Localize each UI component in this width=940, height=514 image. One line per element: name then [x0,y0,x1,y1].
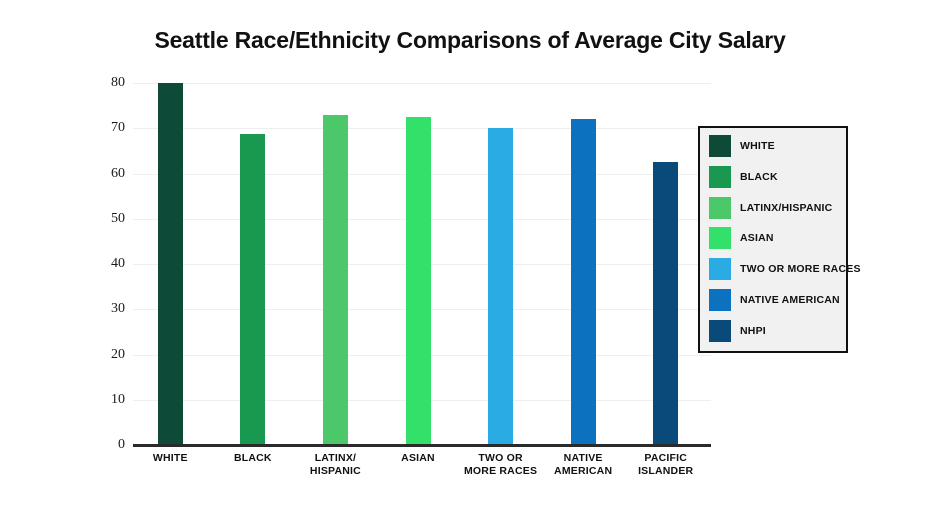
legend: WHITEBLACKLATINX/HISPANICASIANTWO OR MOR… [698,126,848,353]
y-axis-tick-label: 20 [89,348,125,362]
y-axis-tick-label: 0 [89,438,125,452]
y-axis-tick-label: 10 [89,393,125,407]
y-axis-tick-label: 60 [89,167,125,181]
legend-color-swatch [709,227,731,249]
x-axis-tick-label-line: HISPANIC [280,465,390,478]
legend-item-label: WHITE [740,140,775,152]
legend-item-label: LATINX/HISPANIC [740,202,832,214]
y-axis-tick-label: 50 [89,212,125,226]
y-axis-tick-label: 70 [89,121,125,135]
bar[interactable] [653,162,678,445]
legend-item-label: BLACK [740,171,778,183]
bar[interactable] [488,128,513,445]
legend-item[interactable]: TWO OR MORE RACES [709,258,861,280]
legend-color-swatch [709,289,731,311]
legend-item[interactable]: ASIAN [709,227,774,249]
legend-item-label: ASIAN [740,232,774,244]
x-axis-tick-label-line: PACIFIC [611,452,721,465]
legend-color-swatch [709,320,731,342]
legend-color-swatch [709,258,731,280]
legend-item[interactable]: BLACK [709,166,778,188]
legend-item-label: NHPI [740,325,766,337]
legend-item-label: NATIVE AMERICAN [740,294,840,306]
legend-item[interactable]: LATINX/HISPANIC [709,197,832,219]
bar[interactable] [240,134,265,445]
y-axis-tick-label: 40 [89,257,125,271]
x-axis-line [133,444,711,447]
legend-item[interactable]: NHPI [709,320,766,342]
legend-color-swatch [709,197,731,219]
x-axis-tick-label-line: ISLANDER [611,465,721,478]
bar[interactable] [323,115,348,445]
bar[interactable] [571,119,596,445]
y-axis-tick-label: 80 [89,76,125,90]
gridline [133,83,711,84]
bar[interactable] [406,117,431,446]
legend-color-swatch [709,135,731,157]
legend-item[interactable]: NATIVE AMERICAN [709,289,840,311]
legend-item-label: TWO OR MORE RACES [740,263,861,275]
legend-item[interactable]: WHITE [709,135,775,157]
x-axis-tick-label: PACIFICISLANDER [611,452,721,478]
legend-color-swatch [709,166,731,188]
plot-area [133,83,711,445]
y-axis-tick-label: 30 [89,302,125,316]
bar[interactable] [158,83,183,445]
page-title: Seattle Race/Ethnicity Comparisons of Av… [0,27,940,54]
